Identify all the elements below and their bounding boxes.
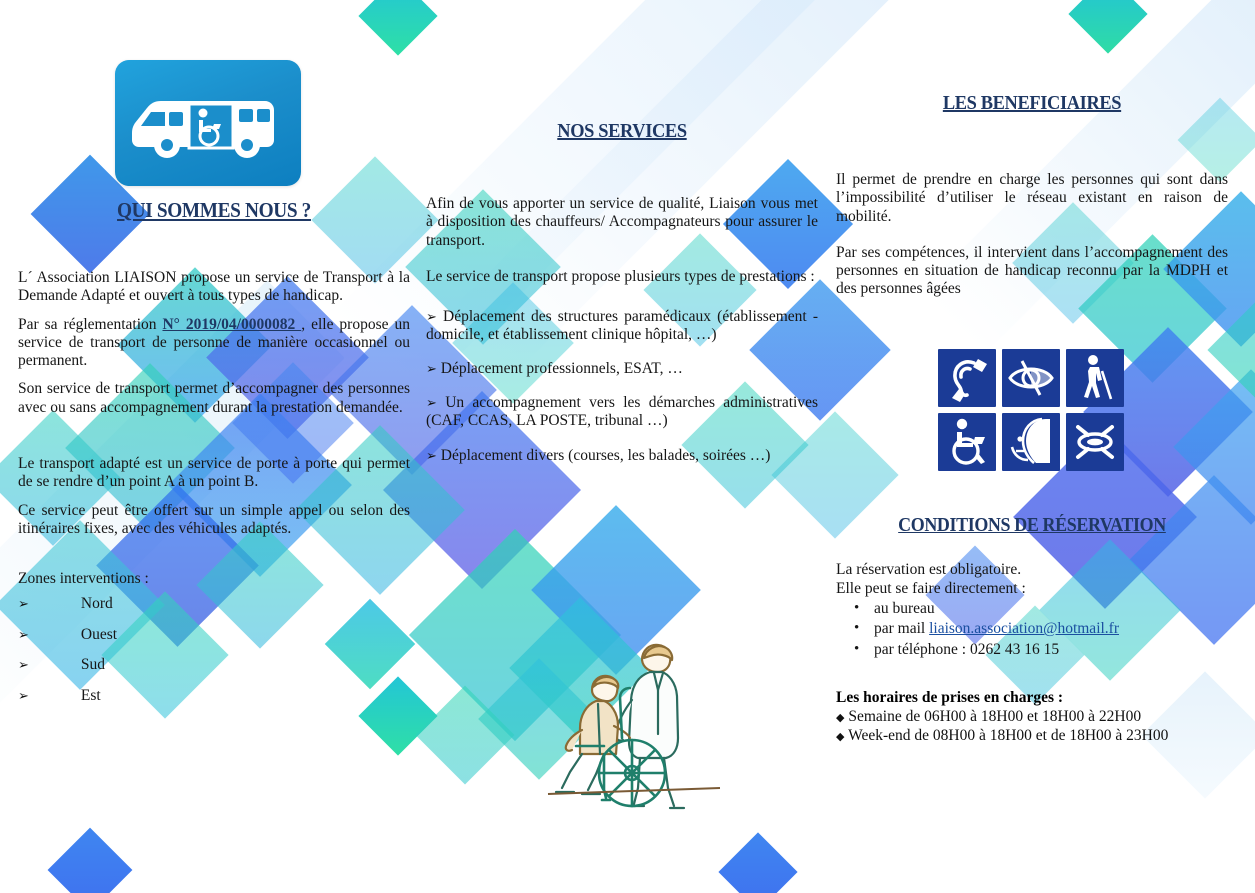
list-item: par mail liaison.association@hotmail.fr <box>836 620 1228 639</box>
reservation-options-list: au bureau par mail liaison.association@h… <box>836 600 1228 660</box>
heading-qui-sommes-nous: QUI SOMMES NOUS ? <box>34 198 395 223</box>
minibus-icon <box>115 60 301 186</box>
hearing-impaired-icon <box>938 349 996 407</box>
option-text: par téléphone : 0262 43 16 15 <box>874 641 1059 658</box>
hours-title: Les horaires de prises en charges : <box>836 689 1228 707</box>
service-text: Déplacement des structures paramédicaux … <box>426 308 818 343</box>
arrow-bullet-icon: ➢ <box>426 449 437 464</box>
paragraph-prestations: Le service de transport propose plusieur… <box>426 268 818 286</box>
list-item: ➢Est <box>18 688 410 704</box>
list-item: ➢ Déplacement divers (courses, les balad… <box>426 447 818 465</box>
email-link[interactable]: liaison.association@hotmail.fr <box>929 620 1119 637</box>
arrow-bullet-icon: ➢ <box>18 689 29 704</box>
arrow-bullet-icon: ➢ <box>426 362 437 377</box>
regulation-number-link[interactable]: N° 2019/04/0000082 <box>162 316 301 333</box>
services-list: ➢ Déplacement des structures paramédicau… <box>426 308 818 465</box>
list-item: ➢Nord <box>18 596 410 612</box>
disability-icons-grid <box>938 349 1124 477</box>
reservation-line-1: La réservation est obligatoire. <box>836 561 1228 580</box>
paragraph-regulation: Par sa réglementation N° 2019/04/0000082… <box>18 316 410 371</box>
arrow-bullet-icon: ➢ <box>18 658 29 673</box>
hours-item: ◆ Semaine de 06H00 à 18H00 et 18H00 à 22… <box>836 708 1228 727</box>
list-item: au bureau <box>836 600 1228 619</box>
list-item: par téléphone : 0262 43 16 15 <box>836 641 1228 660</box>
diamond-bullet-icon: ◆ <box>836 711 844 724</box>
paragraph-association-intro: L´ Association LIAISON propose un servic… <box>18 269 410 306</box>
arrow-bullet-icon: ➢ <box>18 628 29 643</box>
service-text: Déplacement professionnels, ESAT, … <box>441 360 683 377</box>
diamond-bullet-icon: ◆ <box>836 730 844 743</box>
heading-nos-services: NOS SERVICES <box>442 120 803 143</box>
heading-conditions-reservation: CONDITIONS DE RÉSERVATION <box>852 515 1213 537</box>
list-item: ➢ Déplacement des structures paramédicau… <box>426 308 818 345</box>
list-item: ➢ Un accompagnement vers les démarches a… <box>426 394 818 431</box>
mouth-lips-icon <box>1066 413 1124 471</box>
paragraph-qualite: Afin de vous apporter un service de qual… <box>426 195 818 250</box>
arrow-bullet-icon: ➢ <box>426 396 437 411</box>
paragraph-itineraires: Ce service peut être offert sur un simpl… <box>18 502 410 539</box>
zones-label: Zones interventions : <box>18 570 410 588</box>
arrow-bullet-icon: ➢ <box>18 597 29 612</box>
zone-label: Est <box>81 688 101 704</box>
paragraph-prise-en-charge: Il permet de prendre en charge les perso… <box>836 171 1228 226</box>
paragraph-accompagnement: Son service de transport permet d’accomp… <box>18 380 410 417</box>
blind-cane-icon <box>1066 349 1124 407</box>
regulation-before: Par sa réglementation <box>18 316 162 333</box>
zone-label: Nord <box>81 596 113 612</box>
zones-list: ➢Nord ➢Ouest ➢Sud ➢Est <box>18 596 410 703</box>
arrow-bullet-icon: ➢ <box>426 310 437 325</box>
caregiver-wheelchair-illustration <box>546 638 722 822</box>
service-text: Un accompagnement vers les démarches adm… <box>426 394 818 429</box>
option-text: par mail <box>874 620 929 637</box>
option-text: au bureau <box>874 600 935 617</box>
hours-item: ◆ Week-end de 08H00 à 18H00 et de 18H00 … <box>836 727 1228 746</box>
visual-impaired-icon <box>1002 349 1060 407</box>
hours-text: Week-end de 08H00 à 18H00 et de 18H00 à … <box>848 727 1168 744</box>
speech-face-icon <box>1002 413 1060 471</box>
paragraph-competences: Par ses compétences, il intervient dans … <box>836 244 1228 299</box>
wheelchair-icon <box>938 413 996 471</box>
column-nos-services: NOS SERVICES Afin de vous apporter un se… <box>426 120 818 476</box>
list-item: ➢ Déplacement professionnels, ESAT, … <box>426 360 818 378</box>
hours-text: Semaine de 06H00 à 18H00 et 18H00 à 22H0… <box>848 708 1141 725</box>
reservation-line-2: Elle peut se faire directement : <box>836 580 1228 599</box>
service-text: Déplacement divers (courses, les balades… <box>441 447 771 464</box>
paragraph-porte-a-porte: Le transport adapté est un service de po… <box>18 455 410 492</box>
zone-label: Sud <box>81 657 105 673</box>
accessible-minibus-logo <box>115 60 301 186</box>
zone-label: Ouest <box>81 627 117 643</box>
list-item: ➢Ouest <box>18 627 410 643</box>
list-item: ➢Sud <box>18 657 410 673</box>
brochure-page: QUI SOMMES NOUS ? L´ Association LIAISON… <box>0 0 1255 893</box>
heading-les-beneficiaires: LES BENEFICIAIRES <box>852 92 1213 115</box>
